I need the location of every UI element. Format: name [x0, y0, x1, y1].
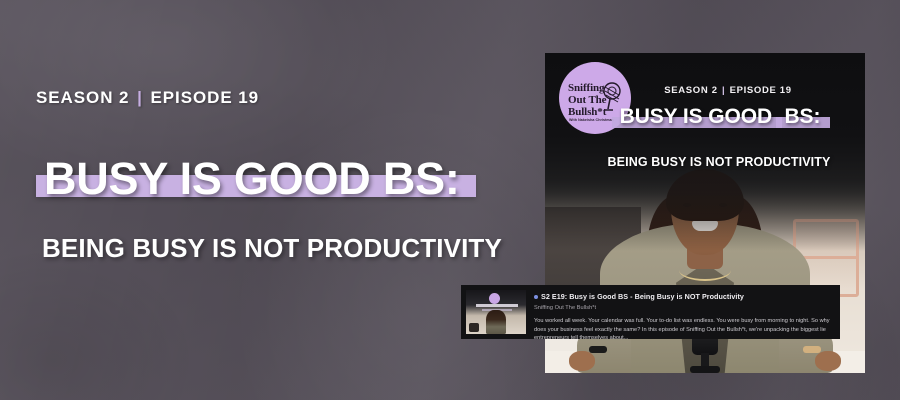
thumbnail-person	[486, 310, 506, 334]
season-episode-eyebrow: SEASON 2 | EPISODE 19	[36, 88, 536, 108]
video-subtitle: BEING BUSY IS NOT PRODUCTIVITY	[545, 155, 865, 169]
thumbnail-logo-badge	[489, 293, 500, 304]
episode-label: EPISODE 19	[151, 88, 260, 107]
hand-right	[815, 351, 841, 371]
microphone-base	[690, 366, 720, 373]
thumbnail-object	[469, 323, 479, 332]
video-title-block: BUSY IS GOOD BS:	[545, 103, 865, 130]
episode-description-text: You worked all week. Your calendar was f…	[534, 317, 835, 339]
bracelet	[803, 346, 821, 353]
video-title-line-1: BUSY IS GOOD	[616, 105, 776, 130]
video-title-row-1: BUSY IS GOOD	[616, 105, 776, 130]
thumbnail-title-line	[476, 304, 518, 307]
page-subtitle: BEING BUSY IS NOT PRODUCTIVITY	[36, 233, 536, 264]
eyebrow-separator: |	[135, 88, 145, 107]
podcast-episode-banner: SEASON 2 | EPISODE 19 BUSY IS GOOD BS: B…	[0, 0, 900, 400]
video-eyebrow-separator: |	[721, 85, 726, 96]
channel-name[interactable]: Sniffing Out The Bullsh*t	[534, 305, 835, 311]
video-episode-label: EPISODE 19	[730, 85, 792, 96]
episode-description-card[interactable]: S2 E19: Busy is Good BS - Being Busy is …	[461, 285, 840, 339]
video-title-line-2: BS:	[780, 105, 824, 130]
new-indicator-dot	[534, 295, 538, 299]
page-title: BUSY IS GOOD BS:	[36, 156, 468, 201]
season-label: SEASON 2	[36, 88, 129, 107]
video-title-row-2: BS:	[780, 105, 824, 130]
wristwatch	[589, 346, 607, 353]
episode-title-row[interactable]: S2 E19: Busy is Good BS - Being Busy is …	[534, 292, 835, 301]
necklace	[679, 259, 731, 281]
episode-title[interactable]: S2 E19: Busy is Good BS - Being Busy is …	[541, 292, 744, 301]
episode-description-body: S2 E19: Busy is Good BS - Being Busy is …	[526, 290, 835, 334]
video-season-label: SEASON 2	[664, 85, 717, 96]
left-text-block: SEASON 2 | EPISODE 19 BUSY IS GOOD BS: B…	[36, 88, 536, 264]
episode-thumbnail[interactable]	[466, 290, 526, 334]
video-season-episode-eyebrow: SEASON 2 | EPISODE 19	[545, 85, 865, 96]
hand-left	[569, 351, 595, 371]
headline-wrapper: BUSY IS GOOD BS:	[36, 156, 468, 201]
